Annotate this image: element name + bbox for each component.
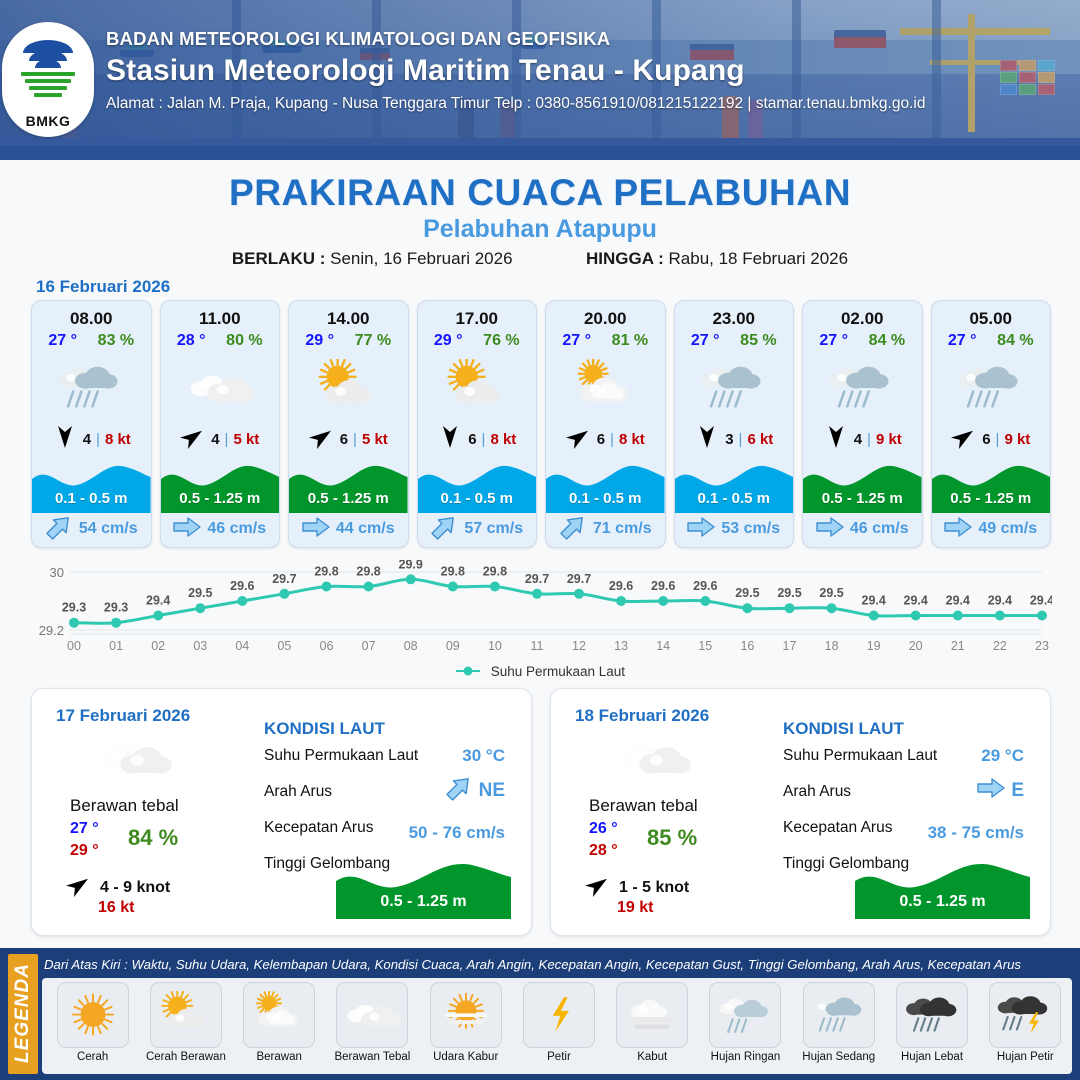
weather-berawan-tebal-icon [161,352,280,424]
bmkg-logo-text: BMKG [2,113,94,129]
legend-item-label: Hujan Petir [997,1051,1054,1063]
validity-row: BERLAKU : Senin, 16 Februari 2026 HINGGA… [0,249,1080,269]
svg-text:17: 17 [783,639,797,653]
panel-wind-row: 4 - 9 knot [66,874,170,901]
svg-text:29.5: 29.5 [819,586,843,600]
card-wind-speed: 6 [982,431,990,448]
svg-text:29.4: 29.4 [146,594,170,608]
wind-direction-arrow-icon [309,426,335,453]
svg-text:29.8: 29.8 [441,565,465,579]
legend-item-label: Cerah Berawan [146,1051,226,1063]
card-separator: | [739,431,743,448]
card-wind-row: 3 | 6 kt [675,426,794,452]
current-direction-arrow-icon [302,516,330,543]
card-current-speed: 46 cm/s [207,520,266,538]
card-time: 08.00 [32,309,151,329]
hourly-card[interactable]: 20.00 27 ° 81 % 6 | 8 kt [545,300,666,548]
svg-text:29.5: 29.5 [188,586,212,600]
card-separator: | [867,431,871,448]
legend-item-label: Hujan Lebat [901,1051,963,1063]
card-wave-height: 0.5 - 1.25 m [289,490,408,507]
card-humidity: 80 % [226,332,262,350]
current-direction-arrow-icon [816,516,844,543]
panel-humidity: 85 % [647,825,697,851]
card-current-row: 46 cm/s [161,515,280,543]
daily-panel[interactable]: 17 Februari 2026 Berawan tebal 27 ° 29 °… [31,688,532,936]
legend-item-label: Hujan Ringan [711,1051,781,1063]
card-wave-height: 0.5 - 1.25 m [803,490,922,507]
card-gust: 9 kt [1004,431,1030,448]
panel-sst-value: 29 °C [981,746,1024,766]
card-wave-height: 0.5 - 1.25 m [161,490,280,507]
card-temp-humidity-row: 27 ° 83 % [32,332,151,350]
card-humidity: 77 % [355,332,391,350]
card-temp-humidity-row: 27 ° 81 % [546,332,665,350]
bmkg-emblem-icon [20,38,76,104]
svg-text:09: 09 [446,639,460,653]
card-humidity: 83 % [98,332,134,350]
chart-legend-label: Suhu Permukaan Laut [491,664,625,679]
panel-sst-value: 30 °C [462,746,505,766]
weather-hujan-ringan-icon [709,982,781,1048]
panel-label-current-direction: Arah Arus [264,783,332,801]
legend-item: Cerah Berawan [139,980,232,1072]
svg-text:11: 11 [531,639,544,653]
panel-wind-row: 1 - 5 knot [585,874,689,901]
chart-legend-swatch-icon [455,665,481,680]
legend-bar: LEGENDA Dari Atas Kiri : Waktu, Suhu Uda… [0,948,1080,1080]
card-separator: | [482,431,486,448]
card-temperature: 29 ° [434,332,463,350]
panel-gust: 16 kt [98,899,134,917]
svg-text:29.4: 29.4 [1030,594,1052,608]
weather-hujan-lebat-icon [896,982,968,1048]
card-wave-height: 0.5 - 1.25 m [932,490,1051,507]
page-title: PRAKIRAAN CUACA PELABUHAN [0,172,1080,214]
svg-text:29.8: 29.8 [356,565,380,579]
card-current-speed: 71 cm/s [593,520,652,538]
svg-text:20: 20 [909,639,923,653]
card-temp-humidity-row: 28 ° 80 % [161,332,280,350]
panel-label-current-speed: Kecepatan Arus [783,819,892,837]
card-gust: 6 kt [747,431,773,448]
current-direction-arrow-icon [977,777,1005,804]
card-wind-speed: 3 [725,431,733,448]
card-humidity: 85 % [740,332,776,350]
panel-label-current-speed: Kecepatan Arus [264,819,373,837]
svg-text:10: 10 [488,639,502,653]
card-current-row: 44 cm/s [289,515,408,543]
card-wave-height: 0.1 - 0.5 m [32,490,151,507]
card-separator: | [610,431,614,448]
hourly-card[interactable]: 02.00 27 ° 84 % 4 | 9 kt [802,300,923,548]
panel-date: 17 Februari 2026 [56,706,190,726]
legend-item-label: Petir [547,1051,571,1063]
panel-temp-max: 29 ° [70,842,99,860]
card-time: 14.00 [289,309,408,329]
card-current-row: 57 cm/s [418,515,537,543]
svg-text:15: 15 [698,639,712,653]
card-humidity: 81 % [612,332,648,350]
svg-text:04: 04 [235,639,249,653]
chart-legend: Suhu Permukaan Laut [0,664,1080,680]
legend-item: Hujan Petir [979,980,1072,1072]
wind-direction-arrow-icon [694,426,720,453]
legend-item-label: Berawan [256,1051,301,1063]
banner-strip-lower [0,146,1080,160]
card-temperature: 27 ° [819,332,848,350]
weather-udara-kabur-icon [430,982,502,1048]
panel-current-direction-text: NE [479,780,505,802]
weather-petir-icon [523,982,595,1048]
card-wind-speed: 4 [83,431,91,448]
card-wind-speed: 6 [597,431,605,448]
card-time: 17.00 [418,309,537,329]
svg-text:14: 14 [656,639,670,653]
daily-forecast-panels: 17 Februari 2026 Berawan tebal 27 ° 29 °… [31,688,1051,936]
panel-humidity: 84 % [128,825,178,851]
svg-text:00: 00 [67,639,81,653]
weather-hujan-sedang-icon [803,982,875,1048]
svg-text:19: 19 [867,639,881,653]
legend-side-label: LEGENDA [12,953,34,1073]
card-gust: 8 kt [619,431,645,448]
legend-item: Berawan [233,980,326,1072]
card-temp-humidity-row: 27 ° 85 % [675,332,794,350]
current-direction-arrow-icon [559,516,587,543]
svg-text:02: 02 [151,639,165,653]
hourly-card[interactable]: 17.00 29 ° 76 % 6 | 8 kt 0.1 - 0.5 m [417,300,538,548]
card-current-row: 71 cm/s [546,515,665,543]
weather-berawan-tebal-icon [613,733,693,785]
card-temp-humidity-row: 27 ° 84 % [803,332,922,350]
svg-text:22: 22 [993,639,1007,653]
hourly-card[interactable]: 08.00 27 ° 83 % 4 | 8 kt [31,300,152,548]
card-current-speed: 49 cm/s [978,520,1037,538]
svg-text:08: 08 [404,639,418,653]
legend-item: Hujan Ringan [699,980,792,1072]
header-address: Alamat : Jalan M. Praja, Kupang - Nusa T… [106,95,1066,113]
wind-direction-arrow-icon [66,874,92,901]
svg-text:29.5: 29.5 [777,586,801,600]
card-wind-row: 6 | 9 kt [932,426,1051,452]
svg-text:29.8: 29.8 [483,565,507,579]
panel-label-current-direction: Arah Arus [783,783,851,801]
card-gust: 5 kt [233,431,259,448]
card-gust: 5 kt [362,431,388,448]
svg-text:13: 13 [614,639,628,653]
card-current-speed: 54 cm/s [79,520,138,538]
panel-wave-height: 0.5 - 1.25 m [336,893,511,911]
card-current-row: 49 cm/s [932,515,1051,543]
svg-text:29.5: 29.5 [735,586,759,600]
svg-text:29.4: 29.4 [862,594,886,608]
svg-text:29.9: 29.9 [399,560,423,571]
legend-item: Berawan Tebal [326,980,419,1072]
legend-item: Udara Kabur [419,980,512,1072]
card-current-speed: 57 cm/s [464,520,523,538]
weather-hujan-sedang-icon [803,352,922,424]
validity-to-value: Rabu, 18 Februari 2026 [669,249,849,268]
legend-note: Dari Atas Kiri : Waktu, Suhu Udara, Kele… [44,957,1074,972]
card-gust: 8 kt [490,431,516,448]
card-temp-humidity-row: 29 ° 76 % [418,332,537,350]
svg-text:29.6: 29.6 [693,579,717,593]
legend-item: Hujan Sedang [792,980,885,1072]
legend-item-label: Hujan Sedang [802,1051,875,1063]
wave-band-icon: 0.5 - 1.25 m [855,861,1030,919]
hourly-card[interactable]: 23.00 27 ° 85 % 3 | 6 kt [674,300,795,548]
card-current-row: 53 cm/s [675,515,794,543]
panel-gust: 19 kt [617,899,653,917]
wind-direction-arrow-icon [566,426,592,453]
svg-text:30: 30 [50,565,64,580]
panel-current-direction-text: E [1011,780,1024,802]
card-separator: | [96,431,100,448]
wave-band-icon: 0.5 - 1.25 m [336,861,511,919]
hourly-card[interactable]: 05.00 27 ° 84 % 6 | 9 kt [931,300,1052,548]
current-direction-arrow-icon [45,516,73,543]
current-direction-arrow-icon [173,516,201,543]
legend-item-label: Berawan Tebal [334,1051,410,1063]
card-separator: | [353,431,357,448]
current-direction-arrow-icon [944,516,972,543]
card-wave-height: 0.1 - 0.5 m [546,490,665,507]
weather-berawan-tebal-icon [336,982,408,1048]
panel-sea-header: KONDISI LAUT [264,719,385,739]
wind-direction-arrow-icon [823,426,849,453]
svg-text:29.4: 29.4 [988,594,1012,608]
wind-direction-arrow-icon [951,426,977,453]
card-temperature: 27 ° [562,332,591,350]
svg-text:07: 07 [362,639,376,653]
validity-to-label: HINGGA : [586,249,664,268]
legend-item: Hujan Lebat [885,980,978,1072]
panel-sea-header: KONDISI LAUT [783,719,904,739]
card-humidity: 84 % [869,332,905,350]
panel-current-direction: E [977,777,1024,804]
card-humidity: 76 % [483,332,519,350]
svg-text:03: 03 [193,639,207,653]
card-time: 23.00 [675,309,794,329]
svg-text:29.4: 29.4 [904,594,928,608]
legend-item-label: Udara Kabur [433,1051,498,1063]
weather-hujan-sedang-icon [932,352,1051,424]
legend-item: Kabut [606,980,699,1072]
weather-kabut-icon [616,982,688,1048]
page-subtitle: Pelabuhan Atapupu [0,215,1080,244]
panel-condition: Berawan tebal [589,796,698,816]
legend-items: Cerah Cerah Berawan Berawan [46,980,1072,1072]
svg-text:29.8: 29.8 [314,565,338,579]
panel-current-speed: 38 - 75 cm/s [928,823,1024,843]
card-wind-speed: 6 [468,431,476,448]
wind-direction-arrow-icon [585,874,611,901]
card-time: 05.00 [932,309,1051,329]
weather-berawan-tebal-icon [94,733,174,785]
card-gust: 8 kt [105,431,131,448]
card-wind-row: 6 | 5 kt [289,426,408,452]
panel-label-sst: Suhu Permukaan Laut [783,747,937,765]
card-separator: | [225,431,229,448]
legend-item-label: Cerah [77,1051,108,1063]
weather-cerah-berawan-icon [289,352,408,424]
card-temp-humidity-row: 29 ° 77 % [289,332,408,350]
card-time: 02.00 [803,309,922,329]
card-wind-row: 4 | 8 kt [32,426,151,452]
legend-item-label: Kabut [637,1051,667,1063]
card-time: 20.00 [546,309,665,329]
weather-cerah-icon [57,982,129,1048]
card-wind-row: 4 | 9 kt [803,426,922,452]
card-humidity: 84 % [997,332,1033,350]
hourly-date-label: 16 Februari 2026 [36,277,170,297]
weather-hujan-sedang-icon [32,352,151,424]
panel-date: 18 Februari 2026 [575,706,709,726]
card-temperature: 27 ° [48,332,77,350]
panel-temp-min: 27 ° [70,820,99,838]
panel-current-direction: NE [445,777,505,804]
card-temperature: 27 ° [691,332,720,350]
svg-text:01: 01 [109,639,123,653]
svg-text:12: 12 [572,639,586,653]
svg-text:05: 05 [277,639,291,653]
card-current-speed: 44 cm/s [336,520,395,538]
panel-wind-speed: 1 - 5 knot [619,879,689,897]
legend-item: Cerah [46,980,139,1072]
svg-text:23: 23 [1035,639,1049,653]
banner-strip-upper [0,138,1080,146]
svg-text:06: 06 [320,639,334,653]
panel-wave-height: 0.5 - 1.25 m [855,893,1030,911]
card-current-row: 54 cm/s [32,515,151,543]
card-temp-humidity-row: 27 ° 84 % [932,332,1051,350]
daily-panel[interactable]: 18 Februari 2026 Berawan tebal 26 ° 28 °… [550,688,1051,936]
card-temperature: 27 ° [948,332,977,350]
card-separator: | [996,431,1000,448]
card-gust: 9 kt [876,431,902,448]
card-temperature: 28 ° [177,332,206,350]
panel-temp-max: 28 ° [589,842,618,860]
svg-text:29.7: 29.7 [525,572,549,586]
svg-text:16: 16 [740,639,754,653]
validity-from-value: Senin, 16 Februari 2026 [330,249,512,268]
card-wind-row: 6 | 8 kt [418,426,537,452]
svg-text:29.4: 29.4 [946,594,970,608]
card-wave-height: 0.1 - 0.5 m [418,490,537,507]
header-text-block: BADAN METEOROLOGI KLIMATOLOGI DAN GEOFIS… [106,28,1066,113]
svg-text:29.3: 29.3 [62,601,86,615]
weather-cerah-berawan-icon [418,352,537,424]
card-wind-row: 6 | 8 kt [546,426,665,452]
weather-cerah-berawan-icon [150,982,222,1048]
panel-condition: Berawan tebal [70,796,179,816]
card-wave-height: 0.1 - 0.5 m [675,490,794,507]
bmkg-logo: BMKG [2,22,94,137]
card-current-row: 46 cm/s [803,515,922,543]
panel-temp-min: 26 ° [589,820,618,838]
svg-text:29.2: 29.2 [39,623,64,638]
card-current-speed: 53 cm/s [721,520,780,538]
current-direction-arrow-icon [430,516,458,543]
panel-label-sst: Suhu Permukaan Laut [264,747,418,765]
svg-text:29.3: 29.3 [104,601,128,615]
card-time: 11.00 [161,309,280,329]
svg-text:18: 18 [825,639,839,653]
wind-direction-arrow-icon [180,426,206,453]
weather-hujan-petir-icon [989,982,1061,1048]
hourly-forecast-cards: 08.00 27 ° 83 % 4 | 8 kt [31,300,1051,548]
svg-text:29.6: 29.6 [609,579,633,593]
header-organisation: BADAN METEOROLOGI KLIMATOLOGI DAN GEOFIS… [106,28,1066,50]
card-wind-row: 4 | 5 kt [161,426,280,452]
card-current-speed: 46 cm/s [850,520,909,538]
current-direction-arrow-icon [687,516,715,543]
svg-text:29.7: 29.7 [272,572,296,586]
card-wind-speed: 4 [854,431,862,448]
header-station-name: Stasiun Meteorologi Maritim Tenau - Kupa… [106,54,1066,88]
wind-direction-arrow-icon [52,426,78,453]
svg-text:29.6: 29.6 [651,579,675,593]
legend-side-tab: LEGENDA [8,954,38,1074]
card-wind-speed: 4 [211,431,219,448]
card-wind-speed: 6 [340,431,348,448]
panel-wind-speed: 4 - 9 knot [100,879,170,897]
legend-item: Petir [512,980,605,1072]
current-direction-arrow-icon [445,777,473,804]
header-banner: BMKG BADAN METEOROLOGI KLIMATOLOGI DAN G… [0,0,1080,160]
hourly-card[interactable]: 11.00 28 ° 80 % 4 | 5 kt [160,300,281,548]
hourly-card[interactable]: 14.00 29 ° 77 % 6 | 5 kt 0.5 - 1.25 m [288,300,409,548]
svg-text:29.7: 29.7 [567,572,591,586]
svg-text:29.6: 29.6 [230,579,254,593]
svg-text:21: 21 [951,639,965,653]
panel-current-speed: 50 - 76 cm/s [409,823,505,843]
card-temperature: 29 ° [305,332,334,350]
weather-hujan-sedang-icon [675,352,794,424]
validity-from-label: BERLAKU : [232,249,326,268]
weather-berawan-icon [546,352,665,424]
wind-direction-arrow-icon [437,426,463,453]
weather-berawan-icon [243,982,315,1048]
